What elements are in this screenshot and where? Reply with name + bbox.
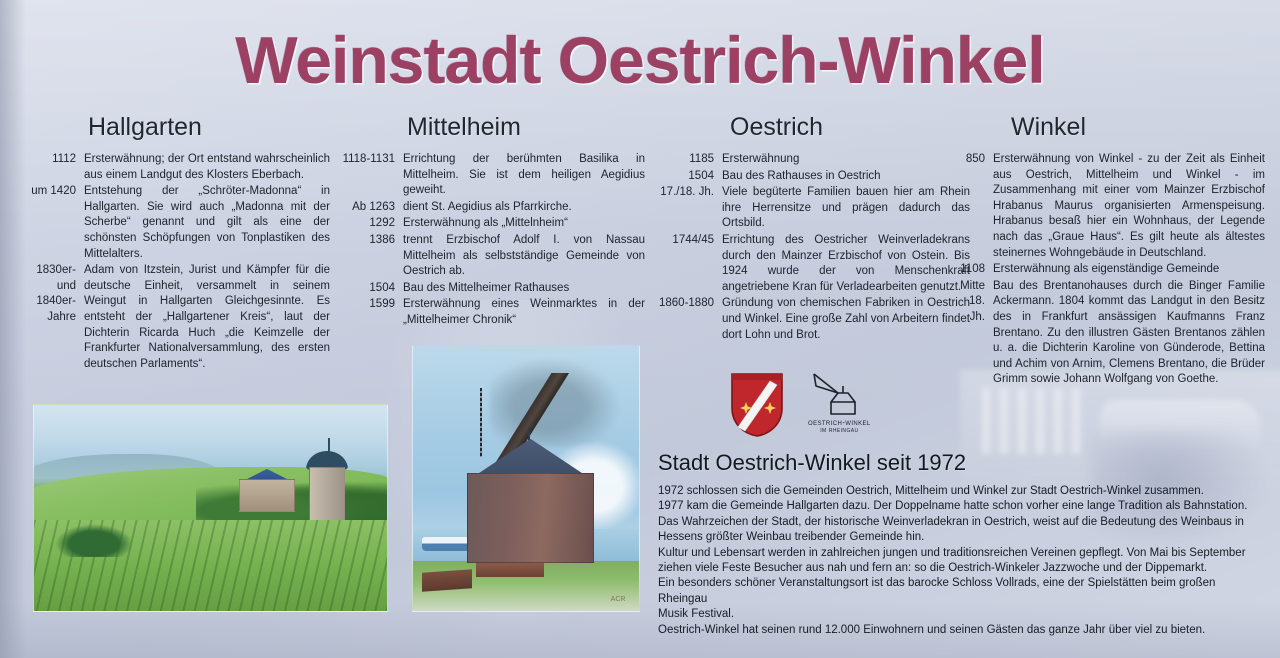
entry-date: 1185 <box>652 152 722 168</box>
bottom-title: Stadt Oestrich-Winkel seit 1972 <box>658 450 1266 476</box>
bottom-line: Oestrich-Winkel hat seinen rund 12.000 E… <box>658 623 1266 638</box>
entry-date: 1386 <box>337 233 403 280</box>
entry-date: 1504 <box>652 169 722 185</box>
entry-date: 1112 <box>22 152 84 183</box>
entry-text: Ersterwähnung von Winkel - zu der Zeit a… <box>993 152 1265 261</box>
painting-boat <box>422 537 472 552</box>
chronicle-entry: um 1420 Entstehung der „Schröter-Madonna… <box>22 184 330 262</box>
entry-text: Ersterwähnung als „Mittelnheim“ <box>403 216 645 232</box>
entry-date: 1292 <box>337 216 403 232</box>
entry-text: Bau des Brentanohauses durch die Binger … <box>993 279 1265 388</box>
entry-date: 1830er- und 1840er-Jahre <box>22 263 84 372</box>
painting-crane-body <box>467 473 594 563</box>
entry-text: dient St. Aegidius als Pfarrkirche. <box>403 200 645 216</box>
entry-text: Adam von Itzstein, Jurist und Kämpfer fü… <box>84 263 330 372</box>
crane-logo-icon <box>808 372 870 416</box>
column-heading: Oestrich <box>652 113 970 142</box>
painting-crane-rope <box>480 388 482 457</box>
entry-date: 1108 <box>955 262 993 278</box>
coat-of-arms-icon <box>730 372 784 438</box>
chronicle-entry: 17./18. Jh. Viele begüterte Familien bau… <box>652 185 970 232</box>
chronicle-entry: Mitte 18. Jh. Bau des Brentanohauses dur… <box>955 279 1265 388</box>
painting-tower <box>309 467 344 525</box>
entry-date: 1504 <box>337 281 403 297</box>
entry-text: Errichtung der berühmten Basilika in Mit… <box>403 152 645 199</box>
entry-text: Viele begüterte Familien bauen hier am R… <box>722 185 970 232</box>
chronicle-entry: 850 Ersterwähnung von Winkel - zu der Ze… <box>955 152 1265 261</box>
chronicle-entry: 1118-1131 Errichtung der berühmten Basil… <box>337 152 645 199</box>
painting-house <box>239 479 295 512</box>
painting-wine-crane-oestrich: ACR <box>412 345 640 612</box>
entry-date: 17./18. Jh. <box>652 185 722 232</box>
entry-date: 1744/45 <box>652 233 722 295</box>
entry-date: 850 <box>955 152 993 261</box>
chronicle-entry: 1112 Ersterwähnung; der Ort entstand wah… <box>22 152 330 183</box>
entry-date: 1599 <box>337 297 403 328</box>
chronicle-entry: 1744/45 Errichtung des Oestricher Weinve… <box>652 233 970 295</box>
chronicle-column-hallgarten: Hallgarten 1112 Ersterwähnung; der Ort e… <box>22 113 330 373</box>
entry-text: Bau des Rathauses in Oestrich <box>722 169 970 185</box>
entry-text: trennt Erzbischof Adolf I. von Nassau Mi… <box>403 233 645 280</box>
chronicle-entry: 1504 Bau des Rathauses in Oestrich <box>652 169 970 185</box>
city-logo-subtitle: im Rheingau <box>820 427 858 434</box>
entry-text: Ersterwähnung; der Ort entstand wahrsche… <box>84 152 330 183</box>
chronicle-entry: 1386 trennt Erzbischof Adolf I. von Nass… <box>337 233 645 280</box>
column-heading: Winkel <box>955 113 1265 142</box>
bottom-line: Hessens größter Weinbau treibender Gemei… <box>658 530 1266 545</box>
chronicle-column-mittelheim: Mittelheim 1118-1131 Errichtung der berü… <box>337 113 645 330</box>
chronicle-entry: 1599 Ersterwähnung eines Weinmarktes in … <box>337 297 645 328</box>
bottom-line: 1977 kam die Gemeinde Hallgarten dazu. D… <box>658 499 1266 514</box>
chronicle-entry: 1185 Ersterwähnung <box>652 152 970 168</box>
emblem-row: Oestrich-Winkel im Rheingau <box>730 372 871 438</box>
bottom-section: Stadt Oestrich-Winkel seit 1972 1972 sch… <box>658 450 1266 638</box>
painting-vineyard-hallgarten <box>33 404 388 612</box>
entry-text: Ersterwähnung eines Weinmarktes in der „… <box>403 297 645 328</box>
painting-bench <box>422 570 472 592</box>
chronicle-entry: 1108 Ersterwähnung als eigenständige Gem… <box>955 262 1265 278</box>
painting-bush <box>55 524 133 557</box>
painting-bench <box>476 563 544 576</box>
chronicle-entry: 1830er- und 1840er-Jahre Adam von Itzste… <box>22 263 330 372</box>
entry-date: Mitte 18. Jh. <box>955 279 993 388</box>
entry-date: 1118-1131 <box>337 152 403 199</box>
chronicle-entry: 1504 Bau des Mittelheimer Rathauses <box>337 281 645 297</box>
bottom-line: ziehen viele Feste Besucher aus nah und … <box>658 561 1266 576</box>
chronicle-entry: 1860-1880 Gründung von chemischen Fabrik… <box>652 296 970 343</box>
bottom-line: Musik Festival. <box>658 607 1266 622</box>
chronicle-column-winkel: Winkel 850 Ersterwähnung von Winkel - zu… <box>955 113 1265 389</box>
entry-date: 1860-1880 <box>652 296 722 343</box>
column-heading: Mittelheim <box>337 113 645 142</box>
entry-text: Errichtung des Oestricher Weinverladekra… <box>722 233 970 295</box>
entry-text: Ersterwähnung als eigenständige Gemeinde <box>993 262 1265 278</box>
page-title: Weinstadt Oestrich-Winkel <box>0 22 1280 98</box>
entry-date: um 1420 <box>22 184 84 262</box>
chronicle-column-oestrich: Oestrich 1185 Ersterwähnung 1504 Bau des… <box>652 113 970 344</box>
bottom-line: Ein besonders schöner Veranstaltungsort … <box>658 576 1266 607</box>
entry-text: Ersterwähnung <box>722 152 970 168</box>
bottom-line: Kultur und Lebensart werden in zahlreich… <box>658 546 1266 561</box>
painting-signature: ACR <box>611 596 626 603</box>
chronicle-entry: Ab 1263 dient St. Aegidius als Pfarrkirc… <box>337 200 645 216</box>
bottom-line: Das Wahrzeichen der Stadt, der historisc… <box>658 515 1266 530</box>
information-panel: Weinstadt Oestrich-Winkel Hallgarten 111… <box>0 0 1280 658</box>
entry-date: Ab 1263 <box>337 200 403 216</box>
chronicle-entry: 1292 Ersterwähnung als „Mittelnheim“ <box>337 216 645 232</box>
city-logo-name: Oestrich-Winkel <box>808 418 871 427</box>
entry-text: Bau des Mittelheimer Rathauses <box>403 281 645 297</box>
entry-text: Gründung von chemischen Fabriken in Oest… <box>722 296 970 343</box>
city-logo: Oestrich-Winkel im Rheingau <box>808 372 871 434</box>
entry-text: Entstehung der „Schröter-Madonna“ in Hal… <box>84 184 330 262</box>
column-heading: Hallgarten <box>22 113 330 142</box>
bottom-line: 1972 schlossen sich die Gemeinden Oestri… <box>658 484 1266 499</box>
